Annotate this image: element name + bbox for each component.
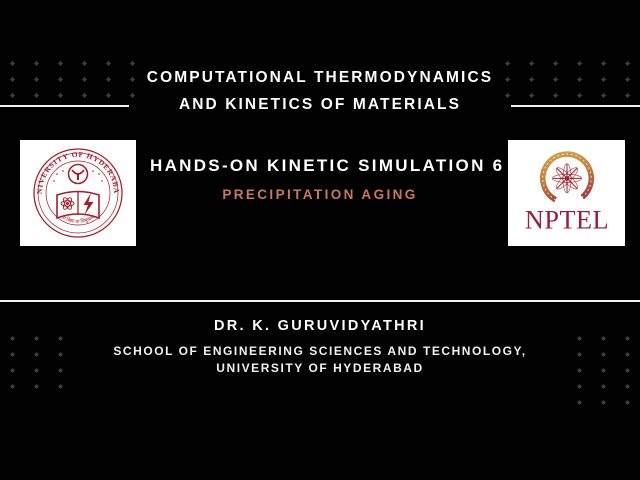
dot	[602, 385, 605, 388]
course-title-line-1: COMPUTATIONAL THERMODYNAMICS	[0, 64, 640, 91]
center-band: UNIVERSITY OF HYDERABAD सा विद्या या विम…	[0, 140, 640, 246]
simulation-title-block: HANDS-ON KINETIC SIMULATION 6 PRECIPITAT…	[150, 156, 490, 202]
presenter-affiliation-line-2: UNIVERSITY OF HYDERABAD	[0, 360, 640, 377]
dot	[35, 385, 38, 388]
presenter-affiliation-line-1: SCHOOL OF ENGINEERING SCIENCES AND TECHN…	[0, 343, 640, 360]
presenter-name: DR. K. GURUVIDYATHRI	[0, 318, 640, 334]
presenter-block: DR. K. GURUVIDYATHRI SCHOOL OF ENGINEERI…	[0, 318, 640, 377]
simulation-topic: PRECIPITATION AGING	[150, 187, 490, 202]
nptel-wordmark: NPTEL	[524, 205, 608, 234]
course-title: COMPUTATIONAL THERMODYNAMICS AND KINETIC…	[0, 64, 640, 118]
presenter-affiliation: SCHOOL OF ENGINEERING SCIENCES AND TECHN…	[0, 343, 640, 377]
dot	[602, 401, 605, 404]
nptel-logo-icon: NPTEL	[515, 145, 619, 241]
nptel-logo-box: NPTEL	[508, 140, 625, 246]
course-title-line-2: AND KINETICS OF MATERIALS	[0, 91, 640, 118]
university-of-hyderabad-logo-box: UNIVERSITY OF HYDERABAD सा विद्या या विम…	[20, 140, 136, 246]
dot	[11, 385, 14, 388]
simulation-title: HANDS-ON KINETIC SIMULATION 6	[150, 156, 490, 176]
dot	[59, 385, 62, 388]
dot	[578, 385, 581, 388]
dot	[626, 385, 629, 388]
dot	[626, 401, 629, 404]
university-of-hyderabad-seal-icon: UNIVERSITY OF HYDERABAD सा विद्या या विम…	[28, 143, 128, 243]
title-slide: COMPUTATIONAL THERMODYNAMICS AND KINETIC…	[0, 0, 640, 480]
divider-full-width	[0, 300, 640, 302]
dot	[578, 401, 581, 404]
